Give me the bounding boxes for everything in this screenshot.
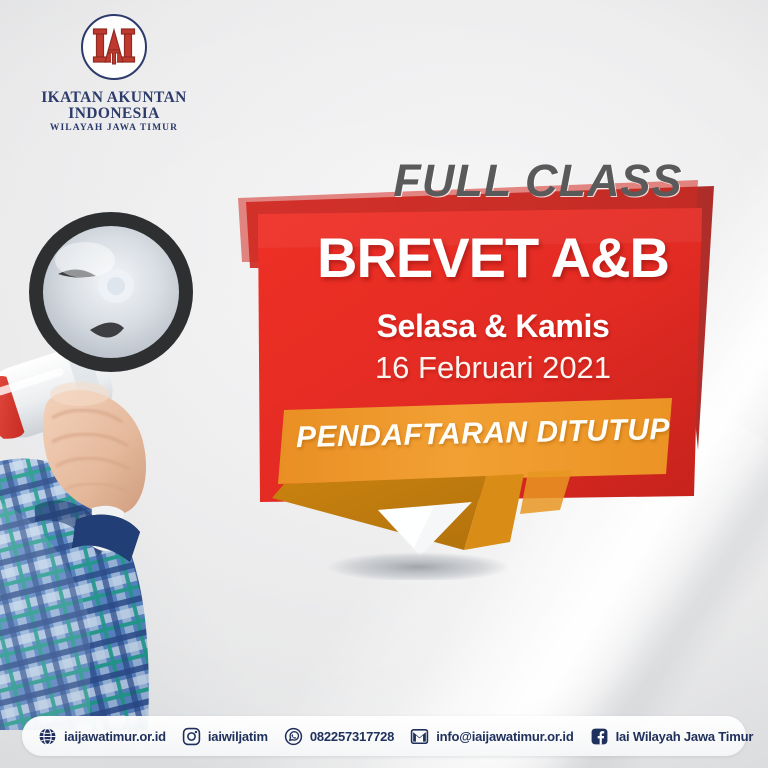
course-date: 16 Februari 2021 [268, 352, 718, 383]
poster-canvas: IKATAN AKUNTAN INDONESIA WILAYAH JAWA TI… [0, 0, 768, 768]
contact-footer-bar: iaijawatimur.or.id iaiwiljatim 082257317… [22, 716, 746, 756]
facebook-label: Iai Wilayah Jawa Timur [616, 730, 754, 743]
whatsapp-icon [284, 727, 303, 746]
contact-item-email[interactable]: info@iaijawatimur.or.id [410, 727, 573, 746]
instagram-icon [182, 727, 201, 746]
contact-item-whatsapp[interactable]: 082257317728 [284, 727, 394, 746]
globe-icon [38, 727, 57, 746]
contact-item-website[interactable]: iaijawatimur.or.id [38, 727, 166, 746]
facebook-icon [590, 727, 609, 746]
iai-monogram-icon [81, 14, 147, 80]
contact-item-facebook[interactable]: Iai Wilayah Jawa Timur [590, 727, 754, 746]
course-title: BREVET A&B [268, 230, 718, 286]
logo-organization-name: IKATAN AKUNTAN INDONESIA [8, 90, 220, 121]
eyebrow-text: FULL CLASS [328, 158, 748, 203]
contact-item-instagram[interactable]: iaiwiljatim [182, 727, 268, 746]
iai-logo: IKATAN AKUNTAN INDONESIA WILAYAH JAWA TI… [8, 14, 220, 134]
website-label: iaijawatimur.or.id [64, 730, 166, 743]
email-label: info@iaijawatimur.or.id [436, 730, 573, 743]
announcement-banner: FULL CLASS BREVET A&B Selasa & Kamis 16 … [228, 150, 744, 580]
course-days: Selasa & Kamis [268, 310, 718, 342]
gmail-icon [410, 727, 429, 746]
logo-region-name: WILAYAH JAWA TIMUR [8, 124, 220, 134]
whatsapp-label: 082257317728 [310, 730, 394, 743]
instagram-label: iaiwiljatim [208, 730, 268, 743]
